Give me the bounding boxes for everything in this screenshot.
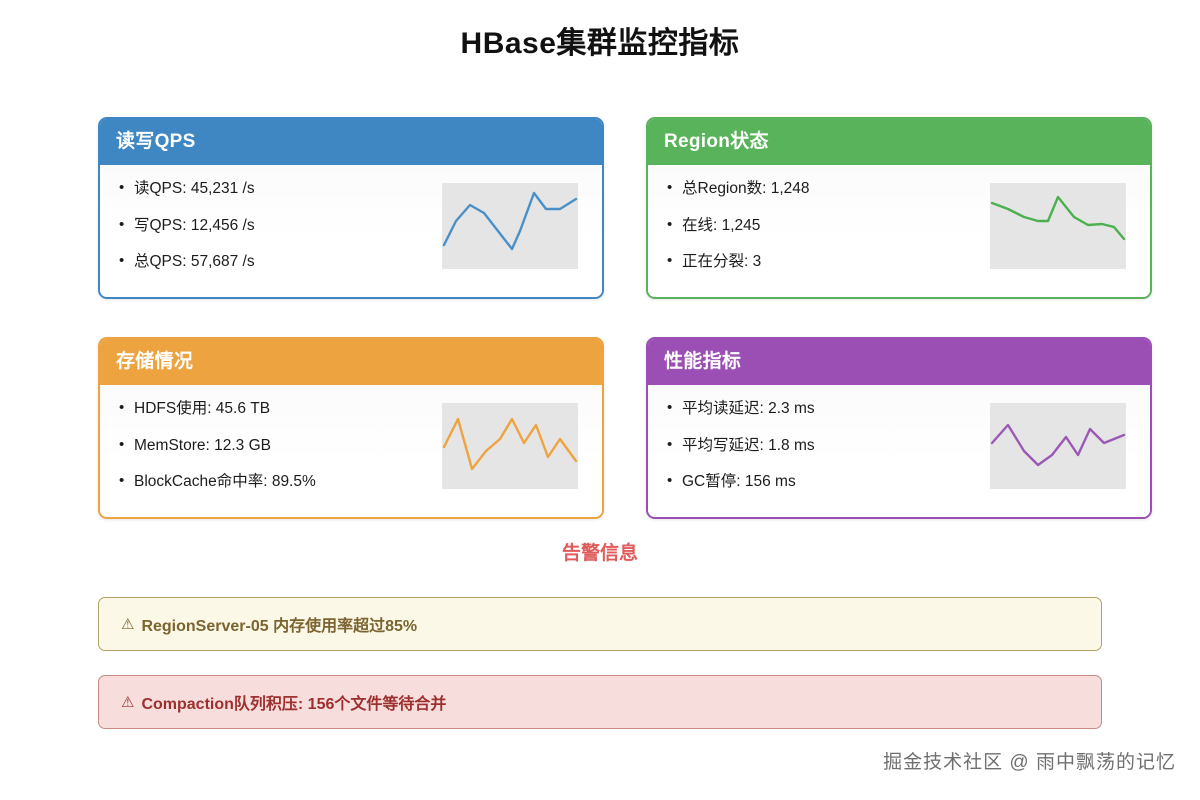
watermark: 掘金技术社区 @ 雨中飘荡的记忆 (883, 747, 1176, 774)
card-body-performance-metrics: 平均读延迟: 2.3 ms 平均写延迟: 1.8 ms GC暂停: 156 ms (648, 385, 1150, 519)
card-header-read-write-qps: 读写QPS (100, 119, 602, 165)
sparkline-path (444, 419, 576, 469)
metric-item: 读QPS: 45,231 /s (118, 181, 442, 197)
sparkline-path (992, 197, 1124, 239)
metric-list-read-write-qps: 读QPS: 45,231 /s 写QPS: 12,456 /s 总QPS: 57… (118, 181, 442, 291)
sparkline-chart-storage-status (442, 403, 578, 489)
warning-icon: ⚠ (121, 693, 134, 711)
metric-item: 正在分裂: 3 (666, 254, 990, 270)
metric-item: 总Region数: 1,248 (666, 181, 990, 197)
card-region-status[interactable]: Region状态 总Region数: 1,248 在线: 1,245 正在分裂:… (646, 117, 1152, 299)
sparkline-chart-performance-metrics (990, 403, 1126, 489)
warning-icon: ⚠ (121, 615, 134, 633)
alert-text: Compaction队列积压: 156个文件等待合并 (141, 690, 446, 714)
metric-item: HDFS使用: 45.6 TB (118, 401, 442, 417)
sparkline-path (444, 193, 576, 249)
card-header-region-status: Region状态 (648, 119, 1150, 165)
sparkline-path (992, 425, 1124, 465)
card-storage-status[interactable]: 存储情况 HDFS使用: 45.6 TB MemStore: 12.3 GB B… (98, 337, 604, 519)
card-header-performance-metrics: 性能指标 (648, 339, 1150, 385)
metric-list-storage-status: HDFS使用: 45.6 TB MemStore: 12.3 GB BlockC… (118, 401, 442, 511)
metric-item: BlockCache命中率: 89.5% (118, 474, 442, 490)
card-body-region-status: 总Region数: 1,248 在线: 1,245 正在分裂: 3 (648, 165, 1150, 299)
card-performance-metrics[interactable]: 性能指标 平均读延迟: 2.3 ms 平均写延迟: 1.8 ms GC暂停: 1… (646, 337, 1152, 519)
card-body-read-write-qps: 读QPS: 45,231 /s 写QPS: 12,456 /s 总QPS: 57… (100, 165, 602, 299)
metric-item: 在线: 1,245 (666, 218, 990, 234)
metric-list-region-status: 总Region数: 1,248 在线: 1,245 正在分裂: 3 (666, 181, 990, 291)
metric-item: GC暂停: 156 ms (666, 474, 990, 490)
metric-item: 写QPS: 12,456 /s (118, 218, 442, 234)
page-title: HBase集群监控指标 (0, 0, 1200, 66)
metric-item: 总QPS: 57,687 /s (118, 254, 442, 270)
alert-text: RegionServer-05 内存使用率超过85% (141, 612, 417, 636)
sparkline-chart-read-write-qps (442, 183, 578, 269)
card-body-storage-status: HDFS使用: 45.6 TB MemStore: 12.3 GB BlockC… (100, 385, 602, 519)
metric-list-performance-metrics: 平均读延迟: 2.3 ms 平均写延迟: 1.8 ms GC暂停: 156 ms (666, 401, 990, 511)
sparkline-chart-region-status (990, 183, 1126, 269)
metric-item: 平均写延迟: 1.8 ms (666, 438, 990, 454)
alert-item-danger[interactable]: ⚠ Compaction队列积压: 156个文件等待合并 (98, 675, 1102, 729)
metric-item: MemStore: 12.3 GB (118, 438, 442, 454)
card-read-write-qps[interactable]: 读写QPS 读QPS: 45,231 /s 写QPS: 12,456 /s 总Q… (98, 117, 604, 299)
alerts-section-title: 告警信息 (0, 538, 1200, 565)
alerts-list: ⚠ RegionServer-05 内存使用率超过85% ⚠ Compactio… (98, 597, 1102, 753)
alert-item-warning[interactable]: ⚠ RegionServer-05 内存使用率超过85% (98, 597, 1102, 651)
card-header-storage-status: 存储情况 (100, 339, 602, 385)
metrics-card-grid: 读写QPS 读QPS: 45,231 /s 写QPS: 12,456 /s 总Q… (98, 117, 1102, 519)
metric-item: 平均读延迟: 2.3 ms (666, 401, 990, 417)
